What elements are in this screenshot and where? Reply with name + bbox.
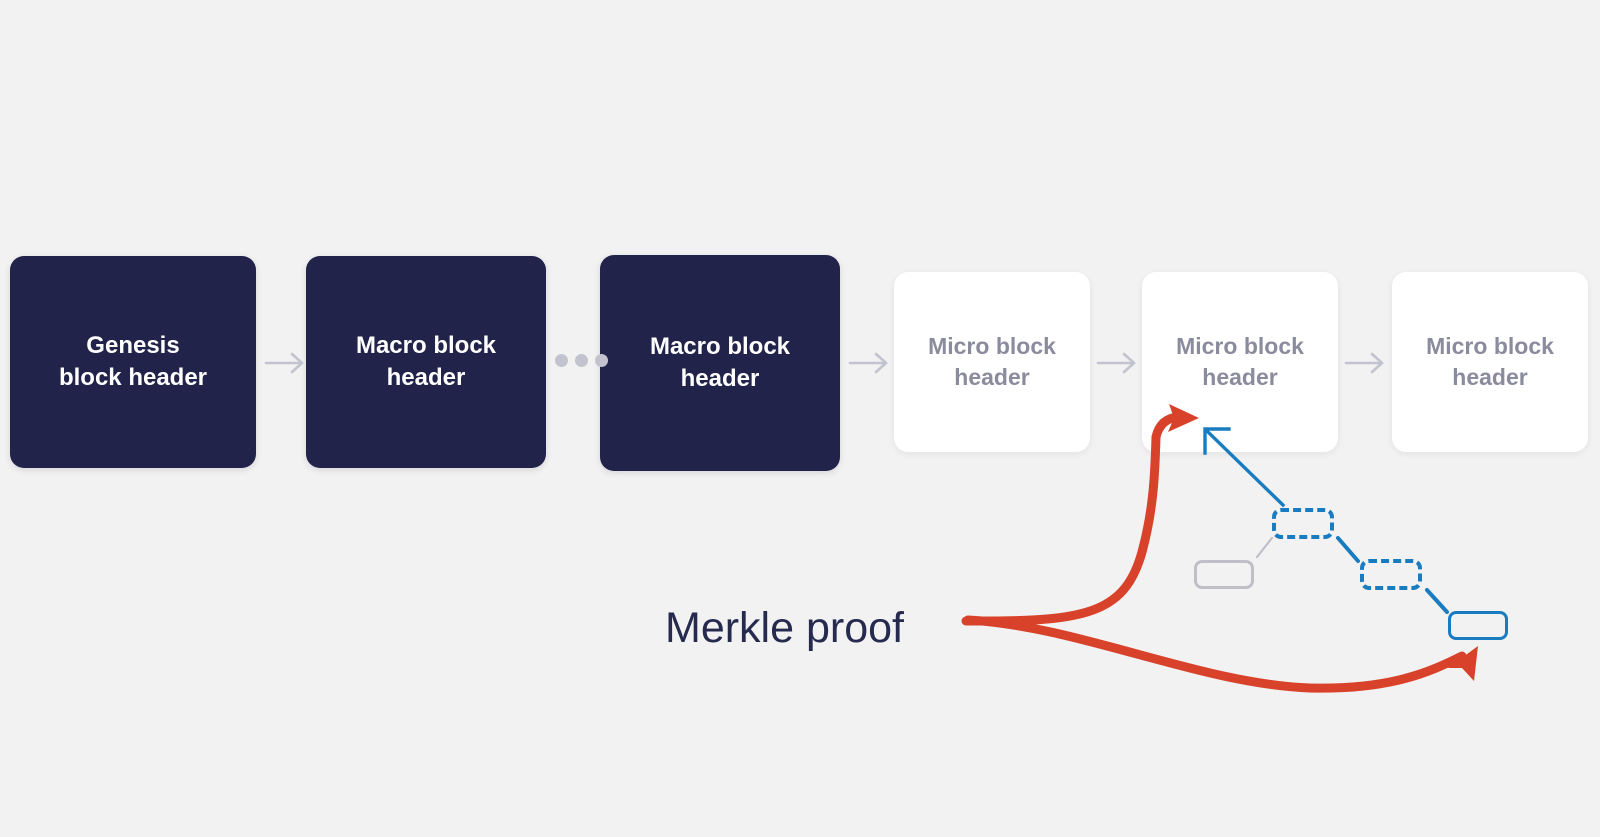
genesis-block-header-label: Genesis block header — [59, 330, 207, 394]
merkle-edge-dashed2-to-solid — [1427, 590, 1447, 612]
micro-block-header-3[interactable]: Micro block header — [1392, 272, 1588, 452]
micro-block-header-2-label: Micro block header — [1176, 331, 1304, 392]
arrow-micro2-to-micro3 — [1344, 346, 1390, 380]
arrow-macro2-to-micro1 — [848, 346, 894, 380]
macro-block-header-2-label: Macro block header — [650, 331, 790, 395]
ellipsis-macro1-to-macro2 — [555, 354, 608, 367]
ellipsis-dot — [555, 354, 568, 367]
merkle-proof-label: Merkle proof — [665, 604, 904, 653]
merkle-node-dashed-1[interactable] — [1272, 508, 1334, 539]
merkle-proof-pointer-lower — [968, 620, 1478, 688]
micro-block-header-2[interactable]: Micro block header — [1142, 272, 1338, 452]
arrow-micro1-to-micro2 — [1096, 346, 1142, 380]
genesis-block-header[interactable]: Genesis block header — [10, 256, 256, 468]
merkle-node-solid[interactable] — [1448, 611, 1508, 640]
arrow-genesis-to-macro1 — [264, 346, 310, 380]
micro-block-header-3-label: Micro block header — [1426, 331, 1554, 392]
diagram-canvas: Genesis block header Macro block header … — [0, 0, 1600, 837]
micro-block-header-1-label: Micro block header — [928, 331, 1056, 392]
ellipsis-dot — [575, 354, 588, 367]
merkle-node-dashed-2[interactable] — [1360, 559, 1422, 590]
macro-block-header-1-label: Macro block header — [356, 330, 496, 394]
merkle-node-gray[interactable] — [1194, 560, 1254, 589]
macro-block-header-2[interactable]: Macro block header — [600, 255, 840, 471]
merkle-edge-gray-to-dashed1 — [1257, 538, 1272, 557]
ellipsis-dot — [595, 354, 608, 367]
macro-block-header-1[interactable]: Macro block header — [306, 256, 546, 468]
micro-block-header-1[interactable]: Micro block header — [894, 272, 1090, 452]
merkle-edge-dashed1-to-dashed2 — [1338, 538, 1358, 561]
